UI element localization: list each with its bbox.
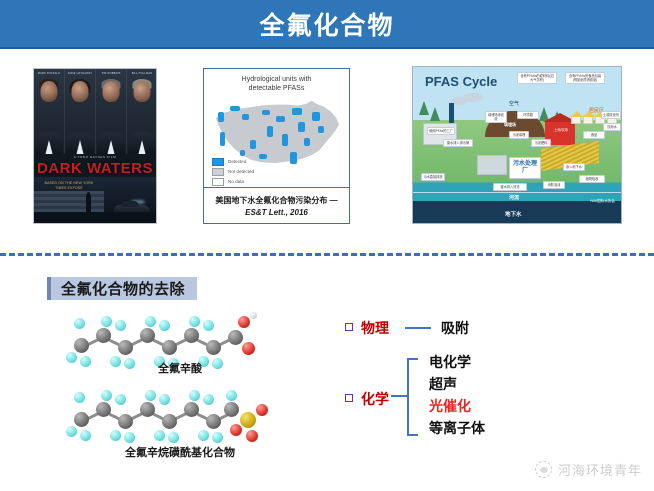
map-patch bbox=[304, 138, 310, 146]
pfas-cycle-infographic: PFAS Cycle 含有PFASs的原材料(如大气沉积) 含有PFASs的食品… bbox=[412, 66, 622, 224]
molecule-pfos: 全氟辛烷磺酰基化合物 bbox=[60, 384, 300, 454]
poster-tagline: BASED ON THE NEW YORK TIMES EXPOSÉ bbox=[42, 181, 96, 191]
label-into-river: 废水排入河流 bbox=[493, 183, 527, 191]
molecule-diagrams: 全氟辛酸 全 bbox=[60, 310, 320, 475]
atom-carbon bbox=[118, 340, 133, 355]
map-patch bbox=[230, 106, 240, 111]
atom-fluorine bbox=[189, 316, 200, 327]
atom-fluorine bbox=[168, 432, 179, 443]
label-environment: 环境箱 bbox=[517, 111, 539, 119]
house-icon bbox=[583, 115, 593, 124]
method-photocatalysis: 光催化 bbox=[429, 396, 471, 416]
atom-carbon bbox=[118, 414, 133, 429]
atom-carbon bbox=[96, 402, 111, 417]
legend-item: Not detected bbox=[212, 168, 272, 176]
section-title-box: 全氟化合物的去除 bbox=[47, 277, 197, 300]
atom-fluorine bbox=[145, 390, 156, 401]
body-shape bbox=[97, 132, 125, 154]
head-shape bbox=[72, 81, 89, 102]
label-raw-material: 含有PFASs的原材料(如大气沉积) bbox=[517, 72, 557, 84]
legend-swatch-not-detected bbox=[212, 168, 224, 176]
category-physical-label: 物理 bbox=[361, 318, 389, 338]
atom-fluorine bbox=[124, 432, 135, 443]
legend-item: No data bbox=[212, 178, 272, 186]
road-shape bbox=[34, 212, 157, 223]
atom-carbon bbox=[206, 340, 221, 355]
map-patch bbox=[220, 132, 225, 146]
label-iwa: IWA国际水协会 bbox=[590, 199, 615, 204]
poster-title: DARK WATERS bbox=[34, 160, 156, 177]
treatment-tank bbox=[477, 155, 507, 175]
body-shape bbox=[35, 132, 63, 154]
atom-sulfur bbox=[240, 412, 256, 428]
house-icon bbox=[571, 115, 581, 124]
actor-name: TIM ROBBINS bbox=[96, 72, 126, 75]
atom-oxygen bbox=[230, 424, 242, 436]
atom-carbon bbox=[162, 414, 177, 429]
actor-portrait: MARK RUFFALO bbox=[34, 69, 65, 154]
tree-icon bbox=[430, 107, 440, 121]
river-line bbox=[413, 192, 622, 193]
head-shape bbox=[41, 81, 58, 102]
atom-fluorine bbox=[189, 390, 200, 401]
atom-carbon bbox=[162, 340, 177, 355]
map-patch bbox=[298, 122, 305, 132]
label-river: 河流 bbox=[509, 194, 519, 201]
shirt-shape bbox=[108, 140, 115, 154]
atom-fluorine bbox=[226, 390, 237, 401]
tree-icon bbox=[419, 101, 429, 115]
actor-name: MARK RUFFALO bbox=[34, 72, 64, 75]
map-patch bbox=[282, 134, 288, 146]
map-patch bbox=[240, 150, 245, 156]
wall-shape bbox=[34, 191, 104, 213]
atom-fluorine bbox=[66, 426, 77, 437]
atom-fluorine bbox=[74, 392, 85, 403]
head-shape bbox=[134, 81, 151, 102]
atom-oxygen bbox=[242, 342, 255, 355]
poster-actor-faces: MARK RUFFALO ANNE HATHAWAY TIM ROBBINS B… bbox=[34, 69, 157, 154]
dark-waters-poster: MARK RUFFALO ANNE HATHAWAY TIM ROBBINS B… bbox=[33, 68, 157, 224]
pfas-cycle-title: PFAS Cycle bbox=[425, 74, 497, 89]
removal-methods-list: 物理 吸附 化学 电化学 超声 光催化 等离子体 bbox=[345, 310, 645, 475]
brace-stem bbox=[391, 395, 408, 397]
map-patch bbox=[262, 110, 270, 115]
method-ultrasound: 超声 bbox=[429, 374, 457, 394]
watermark: 河海环境青年 bbox=[535, 460, 642, 479]
atom-carbon bbox=[140, 402, 155, 417]
smoke-cloud bbox=[463, 93, 483, 102]
actor-portrait: ANNE HATHAWAY bbox=[65, 69, 96, 154]
label-sludge-landfill: 污泥填埋 bbox=[509, 131, 529, 139]
atom-fluorine bbox=[80, 430, 91, 441]
label-factory: 使用PFAs的工厂 bbox=[427, 127, 455, 135]
actor-name: BILL PULLMAN bbox=[127, 72, 157, 75]
map-patch bbox=[276, 116, 285, 122]
atom-fluorine bbox=[203, 394, 214, 405]
atom-fluorine bbox=[74, 318, 85, 329]
legend-label: Detected bbox=[228, 159, 246, 164]
figure-head bbox=[87, 192, 90, 195]
atom-oxygen bbox=[256, 404, 268, 416]
head-shape bbox=[103, 81, 120, 102]
section-title-text: 全氟化合物的去除 bbox=[61, 278, 185, 299]
label-air: 空气 bbox=[509, 100, 519, 107]
body-shape bbox=[66, 132, 94, 154]
atom-fluorine bbox=[101, 390, 112, 401]
figure-body bbox=[86, 194, 91, 214]
atom-fluorine bbox=[110, 430, 121, 441]
section-divider bbox=[0, 253, 654, 256]
label-consumer-goods: 含有PFASs的食品包装(例如纸质消费品) bbox=[565, 72, 605, 84]
legend-swatch-detected bbox=[212, 158, 224, 166]
atom-fluorine bbox=[154, 430, 165, 441]
map-title-line2: detectable PFASs bbox=[204, 84, 349, 93]
label-groundwater: 地下水 bbox=[505, 210, 522, 218]
map-caption-line1: 美国地下水全氟化合物污染分布 — bbox=[215, 195, 337, 206]
atom-fluorine bbox=[159, 320, 170, 331]
map-patch bbox=[312, 112, 320, 121]
bullet-square-icon bbox=[345, 323, 353, 331]
map-caption: 美国地下水全氟化合物污染分布 — ES&T Lett., 2016 bbox=[204, 187, 349, 223]
map-title-line1: Hydrological units with bbox=[204, 75, 349, 84]
atom-carbon-carboxyl bbox=[228, 330, 243, 345]
map-patch bbox=[218, 112, 224, 122]
atom-hydrogen bbox=[250, 312, 257, 319]
atom-carbon bbox=[140, 328, 155, 343]
actor-portrait: TIM ROBBINS bbox=[96, 69, 127, 154]
label-plant-uptake: 植物吸收 bbox=[579, 175, 605, 183]
atom-fluorine bbox=[198, 430, 209, 441]
label-drinking-water: 饮用水 bbox=[603, 123, 621, 131]
atom-carbon bbox=[96, 328, 111, 343]
atom-oxygen bbox=[246, 430, 258, 442]
slide-header: 全氟化合物 bbox=[0, 0, 654, 49]
map-patch bbox=[250, 140, 256, 149]
category-chemical-label: 化学 bbox=[361, 389, 389, 409]
actor-name: ANNE HATHAWAY bbox=[65, 72, 95, 75]
label-farm: 土地/农场 bbox=[549, 127, 573, 133]
map-legend: Detected Not detected No data bbox=[212, 158, 272, 188]
label-enter-groundwater: 渗入地下水 bbox=[563, 163, 585, 171]
connector-line bbox=[405, 327, 431, 329]
shirt-shape bbox=[139, 140, 146, 154]
map-patch bbox=[292, 108, 302, 115]
legend-label: No data bbox=[228, 179, 244, 184]
atom-fluorine bbox=[145, 316, 156, 327]
map-patch bbox=[318, 126, 324, 133]
label-sludge: 污泥肥料 bbox=[531, 139, 551, 147]
poster-director-credit: A TODD HAYNES FILM bbox=[34, 155, 156, 159]
watermark-logo-icon bbox=[535, 461, 552, 478]
label-into-sewer: 废水排入排污管 bbox=[443, 139, 473, 147]
method-adsorption: 吸附 bbox=[441, 318, 469, 338]
shirt-shape bbox=[46, 140, 53, 154]
atom-fluorine bbox=[115, 394, 126, 405]
label-wwtp: 污水处理厂 bbox=[509, 157, 541, 179]
molecule-label-pfos: 全氟辛烷磺酰基化合物 bbox=[60, 444, 300, 460]
usa-map: Detected Not detected No data bbox=[204, 96, 351, 186]
molecule-label-pfoa: 全氟辛酸 bbox=[60, 360, 300, 376]
atom-oxygen bbox=[238, 316, 250, 328]
method-electrochemical: 电化学 bbox=[429, 352, 471, 372]
atom-carbon bbox=[184, 402, 199, 417]
map-caption-line2: ES&T Lett., 2016 bbox=[245, 208, 308, 217]
label-leachate: 填埋场渗滤液 bbox=[485, 111, 507, 123]
atom-carbon bbox=[184, 328, 199, 343]
pfas-map-card: Hydrological units with detectable PFASs bbox=[203, 68, 350, 224]
atom-carbon bbox=[74, 338, 89, 353]
label-soil-amend: 土壤改良剂 bbox=[601, 111, 621, 119]
shirt-shape bbox=[77, 140, 84, 154]
legend-swatch-no-data bbox=[212, 178, 224, 186]
page-title: 全氟化合物 bbox=[259, 6, 394, 42]
atom-fluorine bbox=[115, 320, 126, 331]
bullet-square-icon bbox=[345, 394, 353, 402]
atom-carbon bbox=[74, 412, 89, 427]
atom-carbon bbox=[224, 402, 239, 417]
map-patch bbox=[267, 126, 273, 137]
atom-fluorine bbox=[203, 320, 214, 331]
label-direct-discharge: 污水直接排放 bbox=[421, 173, 445, 181]
label-firefighting-foam: 消防泡沫 bbox=[543, 181, 565, 189]
atom-fluorine bbox=[212, 432, 223, 443]
map-patch bbox=[290, 152, 297, 164]
top-image-row: MARK RUFFALO ANNE HATHAWAY TIM ROBBINS B… bbox=[0, 49, 654, 239]
molecule-pfoa: 全氟辛酸 bbox=[60, 310, 300, 372]
legend-label: Not detected bbox=[228, 169, 254, 174]
method-plasma: 等离子体 bbox=[429, 418, 485, 438]
actor-portrait: BILL PULLMAN bbox=[127, 69, 157, 154]
tree-icon bbox=[539, 107, 549, 121]
watermark-text: 河海环境青年 bbox=[558, 460, 642, 479]
atom-fluorine bbox=[101, 316, 112, 327]
label-food: 食品 bbox=[583, 131, 605, 139]
body-shape bbox=[128, 132, 156, 154]
legend-item: Detected bbox=[212, 158, 272, 166]
map-patch bbox=[242, 114, 249, 120]
map-title: Hydrological units with detectable PFASs bbox=[204, 69, 349, 94]
atom-fluorine bbox=[159, 394, 170, 405]
atom-carbon bbox=[206, 414, 221, 429]
brace-bracket bbox=[407, 358, 418, 436]
